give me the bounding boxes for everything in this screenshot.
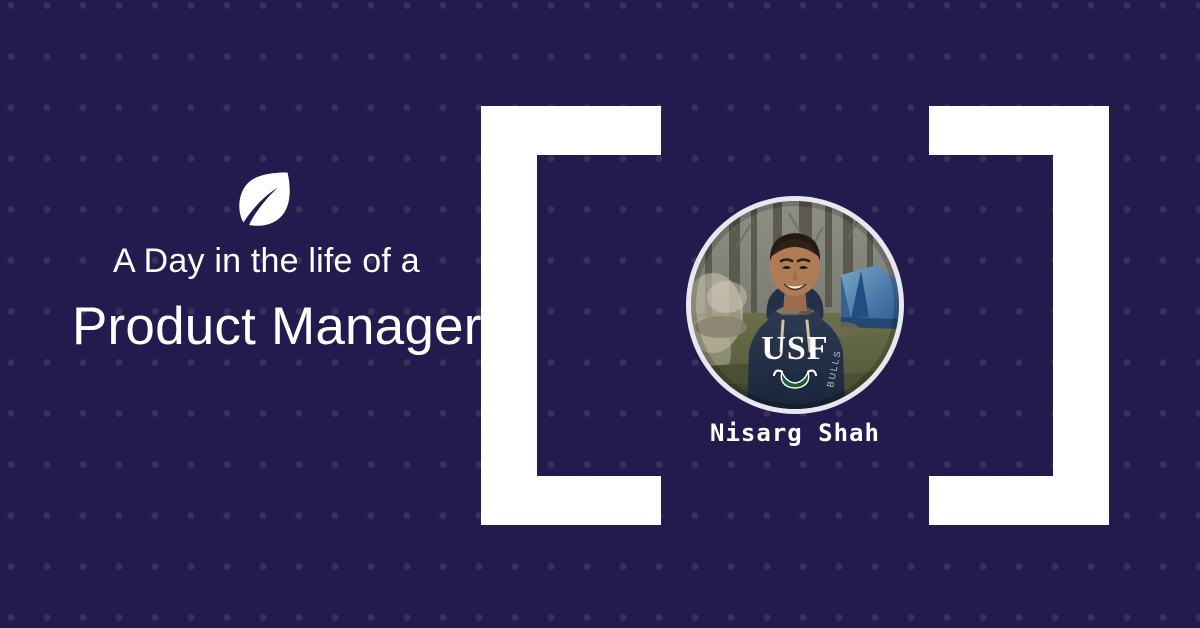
headline-line-one: A Day in the life of a: [113, 240, 420, 282]
social-share-card: A Day in the life of a Product Manager: [0, 0, 1200, 628]
left-bracket-icon: [481, 106, 661, 525]
avatar-ring: USF BULLS: [686, 196, 904, 414]
avatar: USF BULLS: [691, 201, 899, 409]
person-name: Nisarg Shah: [686, 419, 904, 447]
portrait-photo: USF BULLS: [691, 201, 899, 409]
leaf-icon: [237, 170, 293, 228]
headline-block: A Day in the life of a Product Manager: [0, 0, 480, 628]
svg-text:USF: USF: [761, 330, 828, 367]
right-bracket-icon: [929, 106, 1109, 525]
headline-line-two: Product Manager: [72, 296, 482, 358]
